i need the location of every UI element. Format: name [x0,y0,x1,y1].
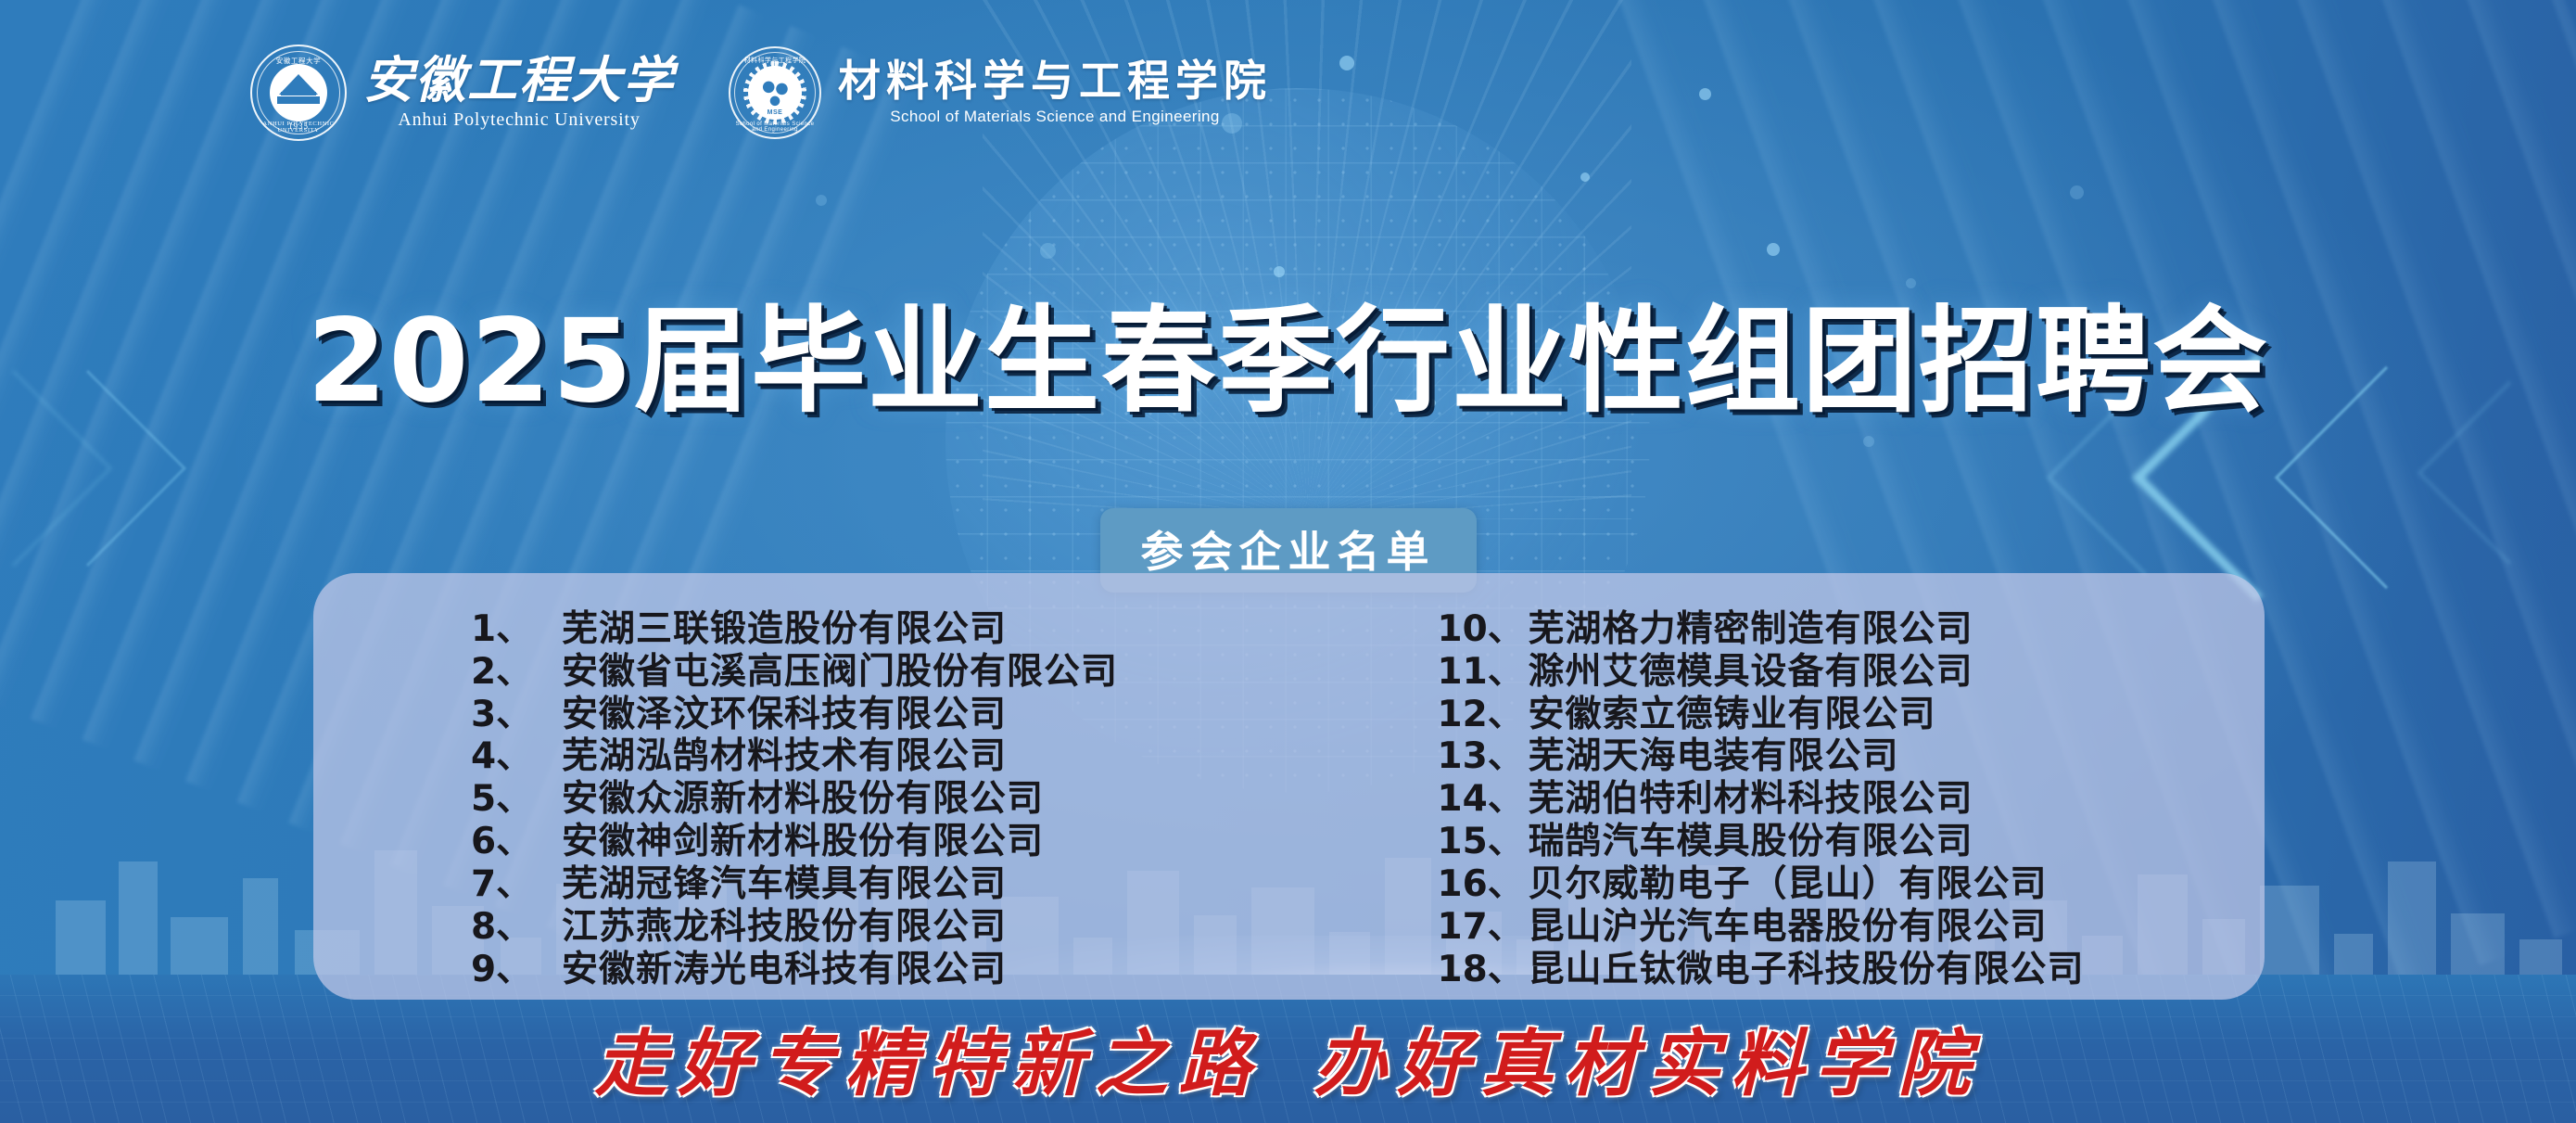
bokeh-dot [1580,172,1590,182]
university-name-en: Anhui Polytechnic University [363,109,675,131]
list-item-label: 安徽省屯溪高压阀门股份有限公司 [562,651,1118,694]
list-item: 7、 芜湖冠锋汽车模具有限公司 [471,863,1299,906]
list-item: 3、 安徽泽汶环保科技有限公司 [471,694,1299,736]
list-item-index: 12、 [1438,694,1529,736]
anhui-polytechnic-university-seal-icon: 安徽工程大学 1935 ANHUI POLYTECHNIC UNIVERSITY [250,45,347,141]
list-item-label: 芜湖伯特利材料科技限公司 [1529,778,1973,821]
list-item: 1、 芜湖三联锻造股份有限公司 [471,608,1299,651]
list-item: 10、 芜湖格力精密制造有限公司 [1438,608,2265,651]
seal-emblem [270,64,327,121]
list-item: 6、 安徽神剑新材料股份有限公司 [471,821,1299,863]
list-item-label: 昆山丘钛微电子科技股份有限公司 [1529,949,2085,991]
list-item-label: 安徽神剑新材料股份有限公司 [562,821,1044,863]
seal-arc-bottom-text: ANHUI POLYTECHNIC UNIVERSITY [252,121,345,134]
list-item-label: 芜湖三联锻造股份有限公司 [562,608,1007,651]
list-item-label: 昆山沪光汽车电器股份有限公司 [1529,906,2048,949]
list-item-index: 14、 [1438,778,1529,821]
company-list-column-right: 10、 芜湖格力精密制造有限公司 11、 滁州艾德模具设备有限公司 12、 安徽… [1299,608,2265,1000]
list-item-label: 安徽索立德铸业有限公司 [1529,694,1936,736]
list-item: 5、 安徽众源新材料股份有限公司 [471,778,1299,821]
list-item: 12、 安徽索立德铸业有限公司 [1438,694,2265,736]
list-item-label: 贝尔威勒电子（昆山）有限公司 [1529,863,2048,906]
list-item-index: 10、 [1438,608,1529,651]
company-list-column-left: 1、 芜湖三联锻造股份有限公司 2、 安徽省屯溪高压阀门股份有限公司 3、 安徽… [313,608,1299,1000]
list-item-label: 滁州艾德模具设备有限公司 [1529,651,1973,694]
list-item-label: 芜湖格力精密制造有限公司 [1529,608,1973,651]
list-item-index: 8、 [471,906,562,949]
list-item-index: 3、 [471,694,562,736]
recruitment-fair-banner: 安徽工程大学 1935 ANHUI POLYTECHNIC UNIVERSITY… [0,0,2576,1123]
list-item: 8、 江苏燕龙科技股份有限公司 [471,906,1299,949]
seal-mark-shape [277,74,320,111]
list-item-label: 安徽众源新材料股份有限公司 [562,778,1044,821]
list-item: 15、 瑞鹄汽车模具股份有限公司 [1438,821,2265,863]
list-item-index: 11、 [1438,651,1529,694]
list-item-index: 7、 [471,863,562,906]
university-name-block: 安徽工程大学 Anhui Polytechnic University [363,55,675,131]
slogan-part-2: 办好真材实料学院 [1314,1024,1982,1104]
list-item-index: 9、 [471,949,562,991]
bokeh-dot [1339,56,1354,70]
school-of-materials-gear-icon: 材料科学与工程学院 MSE School of Materials Scienc… [729,46,821,139]
list-item-index: 16、 [1438,863,1529,906]
bokeh-dot [1040,243,1056,259]
list-item-label: 江苏燕龙科技股份有限公司 [562,906,1007,949]
header-logos: 安徽工程大学 1935 ANHUI POLYTECHNIC UNIVERSITY… [250,45,1272,141]
company-list-panel: 1、 芜湖三联锻造股份有限公司 2、 安徽省屯溪高压阀门股份有限公司 3、 安徽… [313,573,2265,1000]
gear-seal-arc-bottom-text: School of Materials Science and Engineer… [730,121,819,133]
list-item: 11、 滁州艾德模具设备有限公司 [1438,651,2265,694]
list-item-label: 芜湖天海电装有限公司 [1529,735,1899,778]
list-item-label: 芜湖冠锋汽车模具有限公司 [562,863,1007,906]
list-item: 13、 芜湖天海电装有限公司 [1438,735,2265,778]
list-item: 4、 芜湖泓鹄材料技术有限公司 [471,735,1299,778]
list-item-index: 5、 [471,778,562,821]
bokeh-dot [2070,185,2084,199]
school-name-en: School of Materials Science and Engineer… [838,108,1272,126]
list-item-index: 15、 [1438,821,1529,863]
list-item-label: 安徽新涛光电科技有限公司 [562,949,1007,991]
list-item: 18、 昆山丘钛微电子科技股份有限公司 [1438,949,2265,991]
bokeh-dot [1699,88,1711,100]
list-item: 16、 贝尔威勒电子（昆山）有限公司 [1438,863,2265,906]
bokeh-dot [1863,436,1874,447]
list-item-label: 瑞鹄汽车模具股份有限公司 [1529,821,1973,863]
university-name-cn: 安徽工程大学 [363,55,675,108]
list-item: 14、 芜湖伯特利材料科技限公司 [1438,778,2265,821]
bokeh-dot [816,195,827,206]
list-item-index: 18、 [1438,949,1529,991]
list-item: 9、 安徽新涛光电科技有限公司 [471,949,1299,991]
slogan-part-1: 走好专精特新之路 [594,1024,1262,1104]
list-item-index: 2、 [471,651,562,694]
list-item-index: 6、 [471,821,562,863]
list-item-index: 17、 [1438,906,1529,949]
list-item-index: 13、 [1438,735,1529,778]
gear-seal-abbr-text: MSE [768,109,783,117]
bokeh-dot [1767,243,1780,256]
school-name-cn: 材料科学与工程学院 [838,59,1272,104]
list-item: 2、 安徽省屯溪高压阀门股份有限公司 [471,651,1299,694]
list-item-label: 芜湖泓鹄材料技术有限公司 [562,735,1007,778]
list-item-index: 4、 [471,735,562,778]
list-item-label: 安徽泽汶环保科技有限公司 [562,694,1007,736]
school-name-block: 材料科学与工程学院 School of Materials Science an… [838,59,1272,125]
list-item: 17、 昆山沪光汽车电器股份有限公司 [1438,906,2265,949]
slogan-text: 走好专精特新之路办好真材实料学院 [0,1006,2576,1110]
list-item-index: 1、 [471,608,562,651]
page-title: 2025届毕业生春季行业性组团招聘会 [0,267,2576,434]
